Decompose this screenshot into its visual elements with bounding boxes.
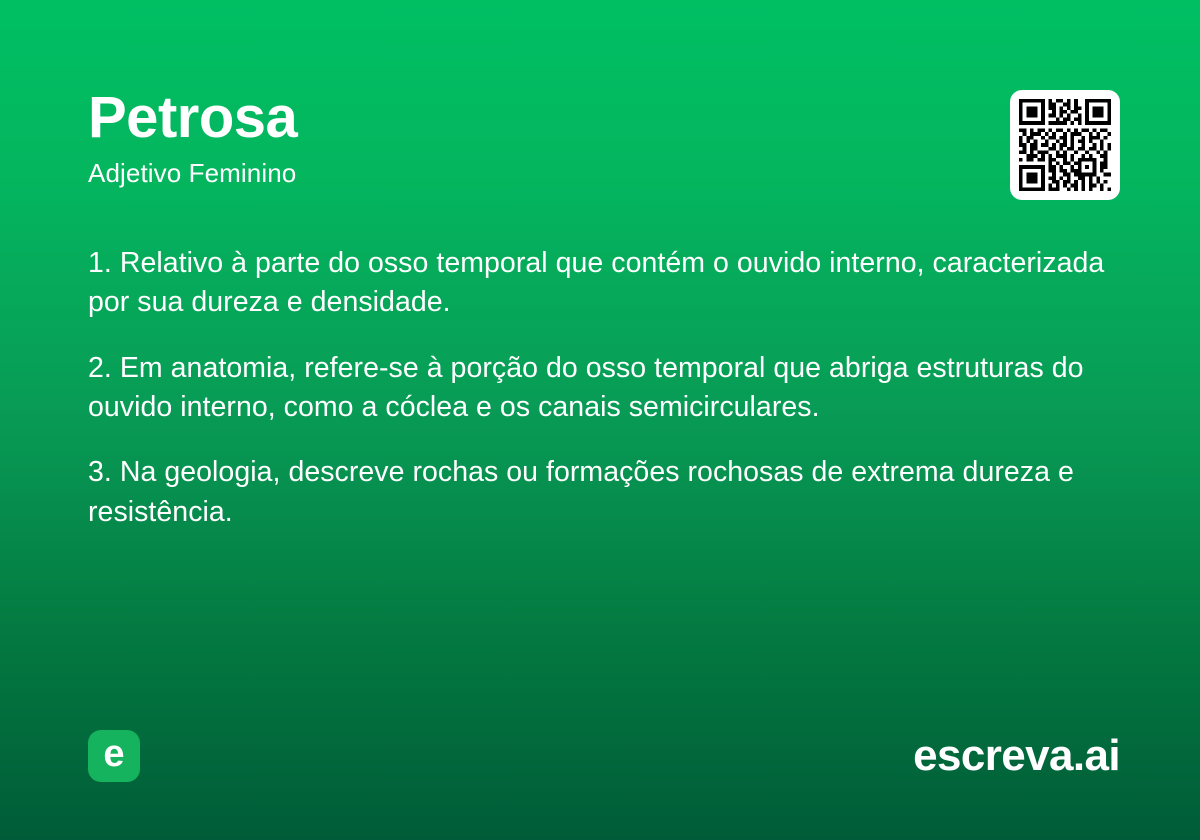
brand-name: escreva.ai xyxy=(913,734,1120,778)
dictionary-card: Petrosa Adjetivo Feminino xyxy=(0,0,1200,840)
definition-item: 3. Na geologia, descreve rochas ou forma… xyxy=(88,453,1110,532)
page-title: Petrosa xyxy=(88,88,1112,147)
definition-item: 1. Relativo à parte do osso temporal que… xyxy=(88,244,1110,323)
brand-logo-icon: e xyxy=(88,730,140,782)
definition-item: 2. Em anatomia, refere-se à porção do os… xyxy=(88,349,1110,428)
card-footer: e escreva.ai xyxy=(88,728,1120,784)
definition-list: 1. Relativo à parte do osso temporal que… xyxy=(88,244,1110,532)
card-header: Petrosa Adjetivo Feminino xyxy=(88,88,1112,188)
brand-logo-letter: e xyxy=(103,735,124,773)
qr-code-icon xyxy=(1019,99,1111,191)
word-class-label: Adjetivo Feminino xyxy=(88,159,1112,188)
qr-code[interactable] xyxy=(1010,90,1120,200)
